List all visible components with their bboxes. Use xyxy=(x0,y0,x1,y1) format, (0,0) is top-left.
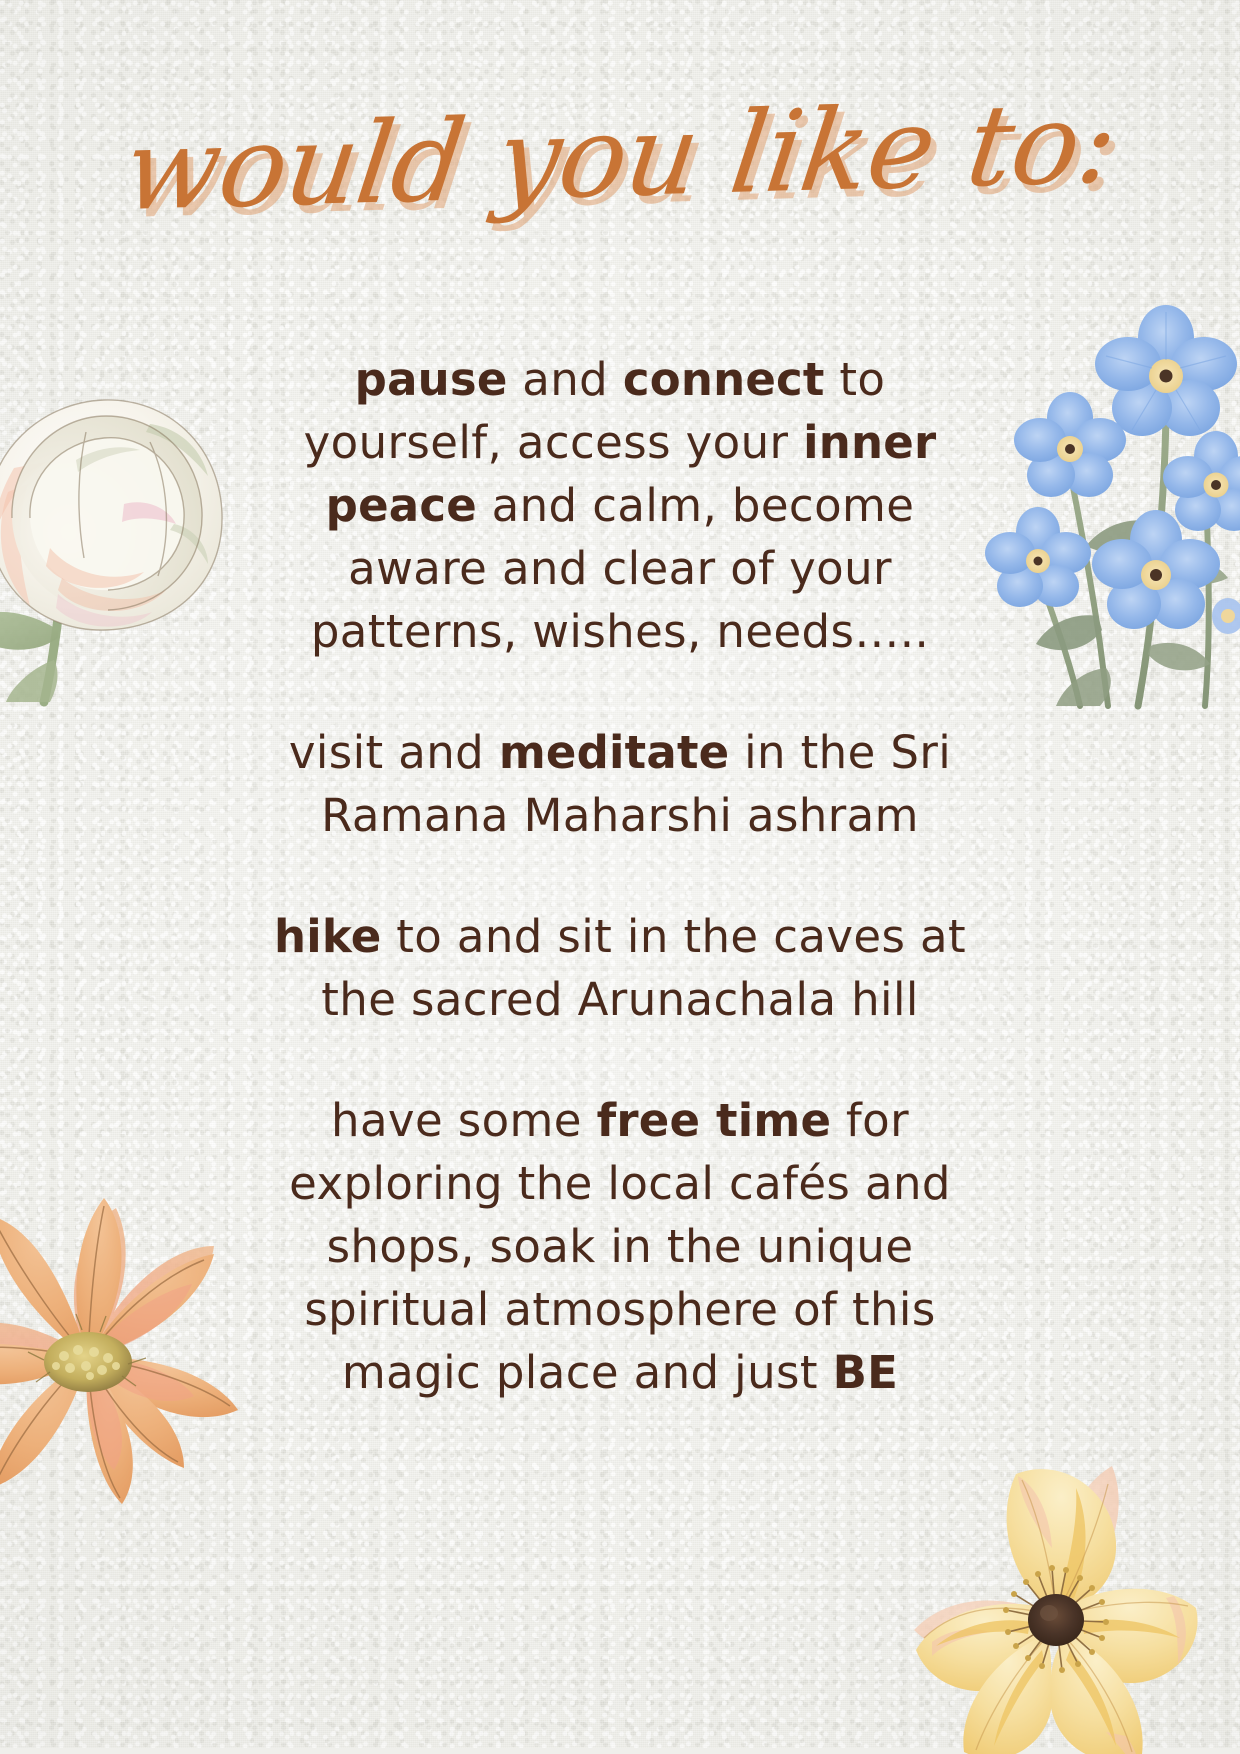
body-line: exploring the local cafés and xyxy=(170,1152,1070,1215)
paragraph-hike-caves: hike to and sit in the caves atthe sacre… xyxy=(170,905,1070,1031)
page-title: would you like to: xyxy=(117,82,1123,233)
body-line: aware and clear of your xyxy=(170,537,1070,600)
body-text: exploring the local cafés and xyxy=(289,1157,951,1210)
body-text: and xyxy=(508,353,623,406)
body-line: have some free time for xyxy=(170,1089,1070,1152)
emphasis-text: BE xyxy=(833,1346,898,1399)
emphasis-text: meditate xyxy=(499,726,730,779)
body-line: magic place and just BE xyxy=(170,1341,1070,1404)
paragraph-spacer xyxy=(170,847,1070,905)
body-text: spiritual atmosphere of this xyxy=(304,1283,935,1336)
emphasis-text: free time xyxy=(597,1094,832,1147)
emphasis-text: peace xyxy=(326,479,477,532)
body-line: peace and calm, become xyxy=(170,474,1070,537)
body-text: for xyxy=(831,1094,909,1147)
paragraph-spacer xyxy=(170,1031,1070,1089)
body-line: hike to and sit in the caves at xyxy=(170,905,1070,968)
body-line: visit and meditate in the Sri xyxy=(170,721,1070,784)
body-text: magic place and just xyxy=(342,1346,833,1399)
body-line: Ramana Maharshi ashram xyxy=(170,784,1070,847)
body-text: aware and clear of your xyxy=(348,542,892,595)
paragraph-spacer xyxy=(170,663,1070,721)
body-line: spiritual atmosphere of this xyxy=(170,1278,1070,1341)
emphasis-text: hike xyxy=(274,910,382,963)
emphasis-text: connect xyxy=(623,353,825,406)
emphasis-text: pause xyxy=(355,353,508,406)
body-line: the sacred Arunachala hill xyxy=(170,968,1070,1031)
body-text: and calm, become xyxy=(477,479,914,532)
body-text: to xyxy=(825,353,886,406)
paragraph-free-time: have some free time forexploring the loc… xyxy=(170,1089,1070,1404)
body-line: shops, soak in the unique xyxy=(170,1215,1070,1278)
emphasis-text: inner xyxy=(803,416,936,469)
body-copy-container: pause and connect toyourself, access you… xyxy=(170,348,1070,1404)
body-text: visit and xyxy=(289,726,499,779)
body-text: have some xyxy=(331,1094,597,1147)
headline-container: would you like to: xyxy=(0,96,1240,286)
body-text: yourself, access your xyxy=(304,416,804,469)
body-line: pause and connect to xyxy=(170,348,1070,411)
body-text: in the Sri xyxy=(729,726,951,779)
body-text: Ramana Maharshi ashram xyxy=(321,789,919,842)
body-text: the sacred Arunachala hill xyxy=(321,973,919,1026)
paragraph-meditate-ashram: visit and meditate in the SriRamana Maha… xyxy=(170,721,1070,847)
body-text: shops, soak in the unique xyxy=(327,1220,914,1273)
paragraph-pause-connect: pause and connect toyourself, access you… xyxy=(170,348,1070,663)
body-text: patterns, wishes, needs….. xyxy=(311,605,929,658)
body-line: yourself, access your inner xyxy=(170,411,1070,474)
body-text: to and sit in the caves at xyxy=(381,910,966,963)
body-line: patterns, wishes, needs….. xyxy=(170,600,1070,663)
